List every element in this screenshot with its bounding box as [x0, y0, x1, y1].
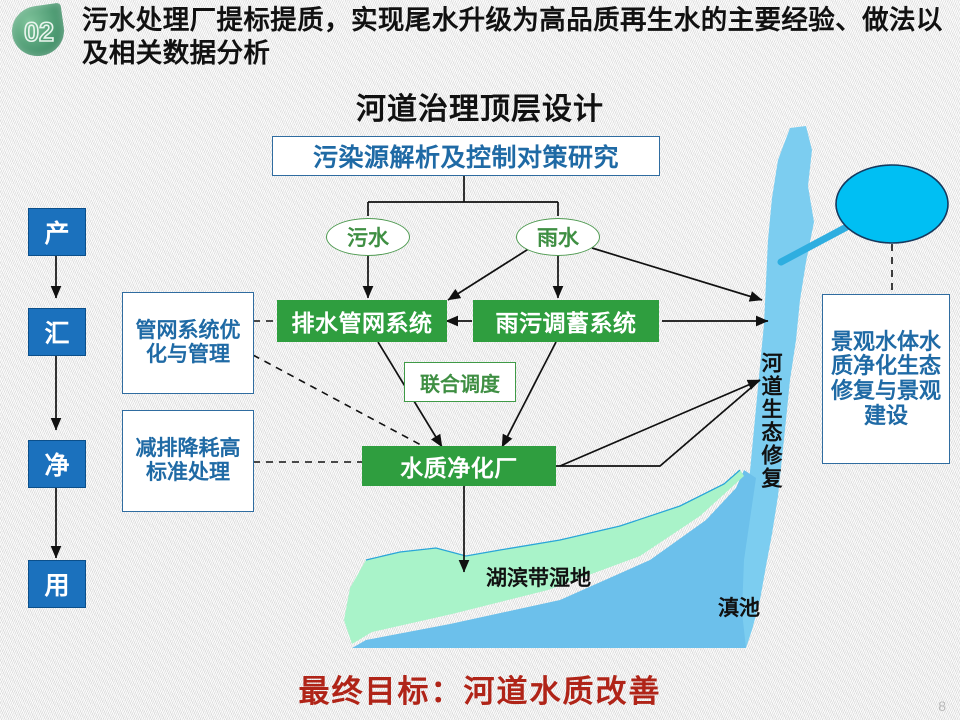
ellipse-rainwater[interactable]: 雨水 — [516, 218, 600, 256]
arrow-rain-to-river — [592, 248, 762, 300]
box-emission-reduction-label: 减排降耗高标准处理 — [129, 437, 247, 484]
box-pollution-source-study-label: 污染源解析及控制对策研究 — [313, 138, 619, 174]
box-pipe-network-optimization-label: 管网系统优化与管理 — [129, 319, 247, 366]
box-pipe-network-optimization[interactable]: 管网系统优化与管理 — [122, 292, 254, 394]
box-drainage-pipe-network-label: 排水管网系统 — [292, 304, 433, 338]
chain-box-chan-label: 产 — [44, 214, 69, 250]
ellipse-sewage-label: 污水 — [347, 222, 389, 252]
label-dianchi-lake: 滇池 — [718, 592, 760, 622]
bracket-lines — [368, 176, 558, 216]
chain-box-jing-label: 净 — [44, 446, 69, 482]
section-number-badge: 02 — [8, 2, 70, 60]
box-drainage-pipe-network[interactable]: 排水管网系统 — [277, 300, 447, 342]
box-water-purification-plant-label: 水质净化厂 — [400, 449, 518, 483]
chain-box-yong-label: 用 — [44, 566, 69, 602]
label-lakeside-wetland: 湖滨带湿地 — [486, 562, 591, 592]
slide-title: 污水处理厂提标提质，实现尾水升级为高品质再生水的主要经验、做法以及相关数据分析 — [82, 4, 952, 70]
box-pollution-source-study[interactable]: 污染源解析及控制对策研究 — [272, 136, 660, 176]
chain-box-hui-label: 汇 — [44, 314, 69, 350]
arrow-rain-to-pipe — [448, 248, 530, 300]
wetland-shape — [344, 470, 744, 644]
box-water-purification-plant[interactable]: 水质净化厂 — [362, 446, 556, 486]
lake-shape — [352, 470, 756, 648]
slide-canvas: 02 污水处理厂提标提质，实现尾水升级为高品质再生水的主要经验、做法以及相关数据… — [0, 0, 960, 720]
final-goal-text: 最终目标：河道水质改善 — [0, 666, 960, 711]
pond-shape — [836, 165, 948, 243]
box-joint-dispatch-label: 联合调度 — [420, 368, 500, 397]
chain-box-yong[interactable]: 用 — [28, 560, 86, 608]
section-number-text: 02 — [9, 3, 69, 61]
box-rain-sewage-storage[interactable]: 雨污调蓄系统 — [473, 300, 659, 342]
chain-box-jing[interactable]: 净 — [28, 440, 86, 488]
chain-box-chan[interactable]: 产 — [28, 208, 86, 256]
river-branch — [781, 222, 856, 262]
ellipse-sewage[interactable]: 污水 — [326, 218, 410, 256]
box-joint-dispatch[interactable]: 联合调度 — [404, 362, 516, 402]
box-rain-sewage-storage-label: 雨污调蓄系统 — [496, 304, 637, 338]
dashed-connectors — [253, 244, 892, 462]
box-emission-reduction[interactable]: 减排降耗高标准处理 — [122, 410, 254, 512]
chain-box-hui[interactable]: 汇 — [28, 308, 86, 356]
page-number: 8 — [938, 698, 946, 714]
box-landscape-water-body[interactable]: 景观水体水质净化生态修复与景观建设 — [822, 294, 950, 464]
label-river-ecological-restoration: 河道生态修复 — [760, 352, 781, 490]
box-landscape-water-body-label: 景观水体水质净化生态修复与景观建设 — [829, 330, 943, 429]
slide-subtitle: 河道治理顶层设计 — [0, 84, 960, 128]
ellipse-rainwater-label: 雨水 — [537, 222, 579, 252]
line-plant-right-elbow — [556, 380, 760, 466]
arrow-plant-to-river — [560, 380, 760, 466]
